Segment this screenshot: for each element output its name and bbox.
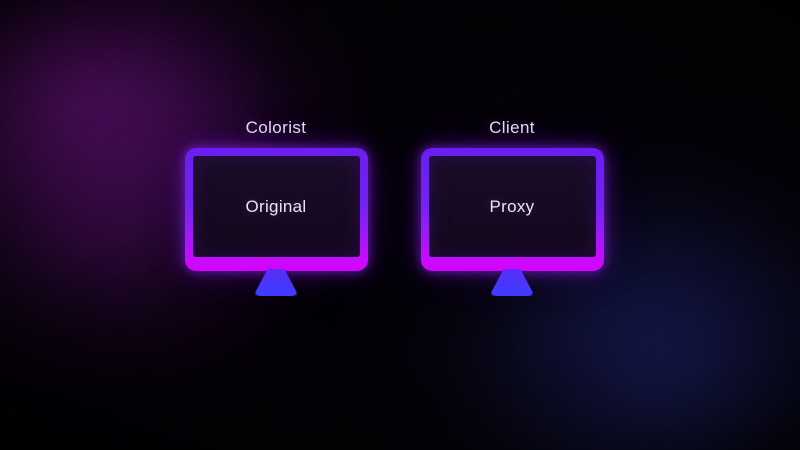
- slide-canvas: Colorist Original Client Proxy: [0, 0, 800, 450]
- monitor-pair: Colorist Original Client Proxy: [0, 0, 800, 450]
- monitor-stand-colorist: [185, 271, 368, 299]
- screen-text-original: Original: [246, 197, 307, 217]
- monitor-colorist[interactable]: Colorist Original: [176, 118, 376, 299]
- monitor-bezel-colorist: Original: [185, 148, 368, 271]
- screen-text-proxy: Proxy: [490, 197, 535, 217]
- monitor-screen-client: Proxy: [429, 156, 596, 257]
- monitor-stand-client: [421, 271, 604, 299]
- monitor-client[interactable]: Client Proxy: [412, 118, 612, 299]
- monitor-screen-colorist: Original: [193, 156, 360, 257]
- monitor-label-colorist: Colorist: [176, 118, 376, 138]
- stand-neck-icon: [491, 269, 533, 296]
- monitor-bezel-client: Proxy: [421, 148, 604, 271]
- stand-neck-icon: [255, 269, 297, 296]
- monitor-label-client: Client: [412, 118, 612, 138]
